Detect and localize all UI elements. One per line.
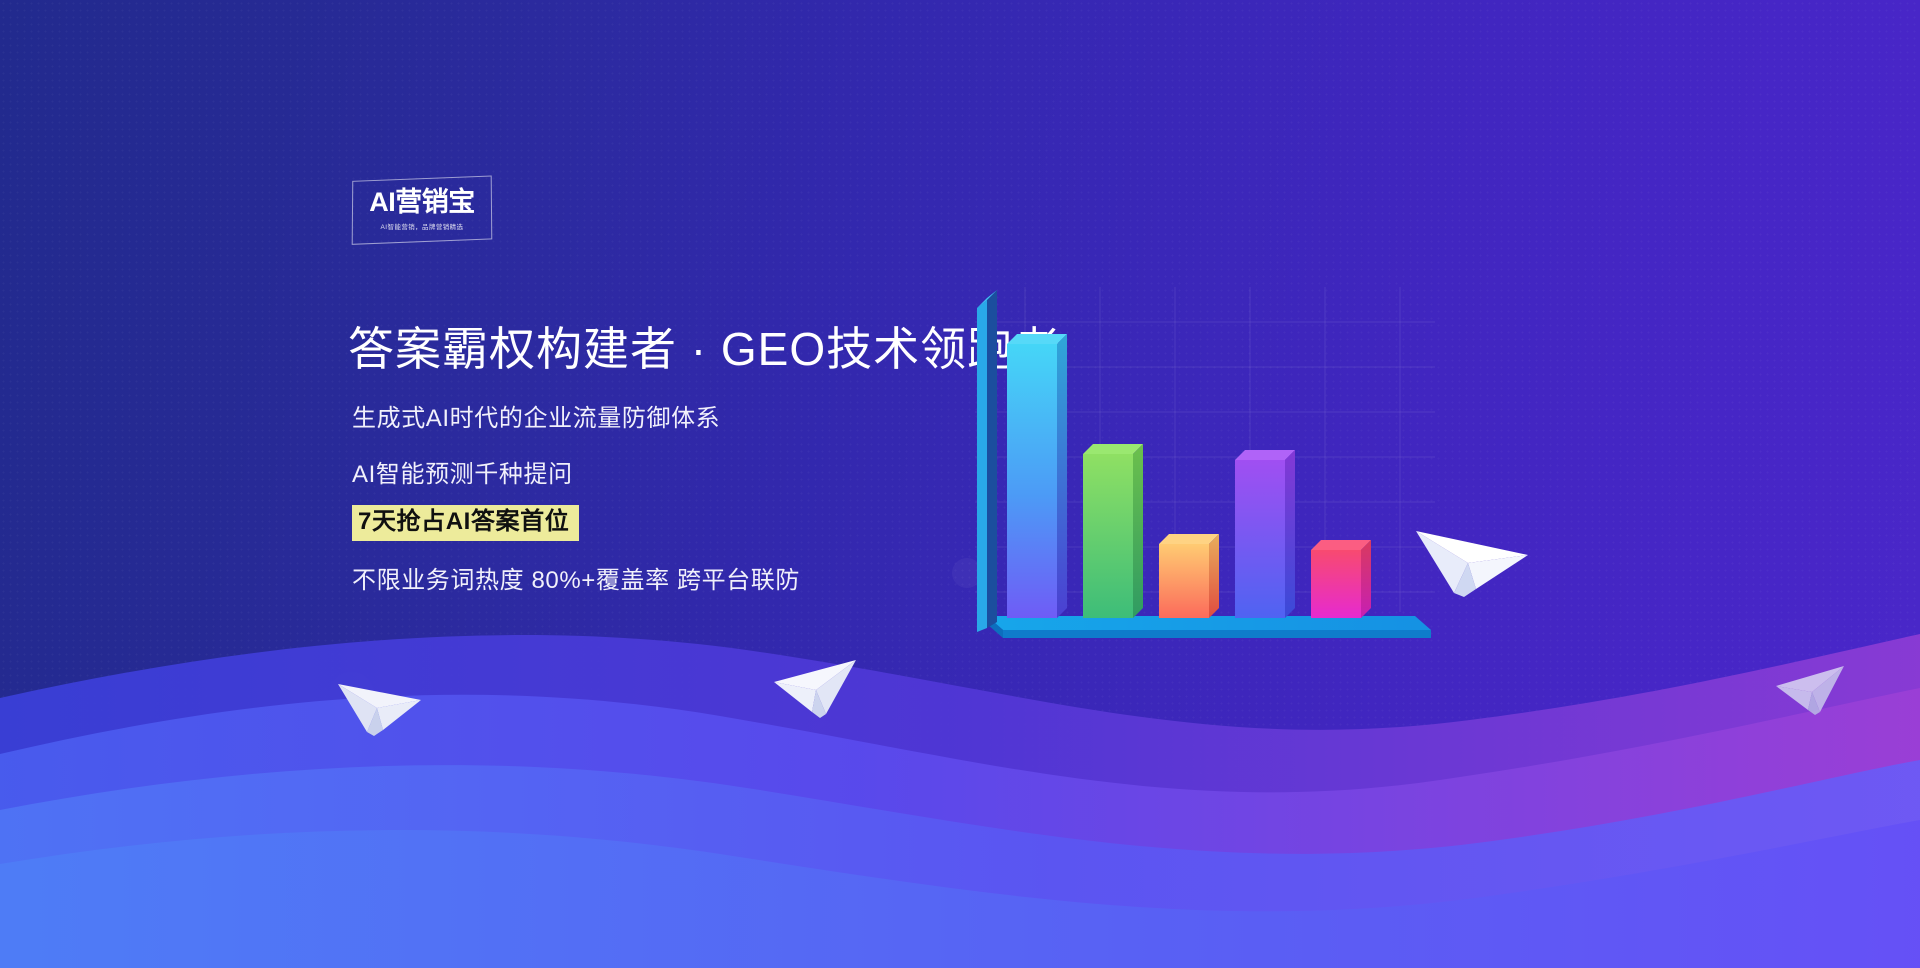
chart-base-plate xyxy=(987,616,1431,638)
brand-logo[interactable]: AI营销宝 AI智能营销，品牌营销精选 xyxy=(352,178,492,242)
hero-subline-4: 不限业务词热度 80%+覆盖率 跨平台联防 xyxy=(352,560,800,595)
chart-y-axis xyxy=(977,290,997,632)
chart-bar xyxy=(1007,334,1067,618)
chart-bar xyxy=(1311,540,1371,618)
chart-bar xyxy=(1235,450,1295,618)
hero-banner: AI营销宝 AI智能营销，品牌营销精选 答案霸权构建者 · GEO技术领跑者 生… xyxy=(0,0,1920,968)
page-title: 答案霸权构建者 · GEO技术领跑者 xyxy=(348,313,1061,379)
bar-chart-illustration xyxy=(965,282,1445,662)
hero-highlight-row: 7天抢占AI答案首位 xyxy=(352,505,579,541)
hero-subline-1: 生成式AI时代的企业流量防御体系 xyxy=(352,398,720,433)
hero-highlight-text: 7天抢占AI答案首位 xyxy=(352,505,579,541)
paper-plane-icon xyxy=(768,650,860,722)
wave-decoration xyxy=(0,548,1920,968)
paper-plane-icon xyxy=(1412,515,1532,605)
paper-plane-icon xyxy=(335,672,425,742)
logo-text: AI营销宝 xyxy=(369,189,475,216)
chart-bar xyxy=(1159,534,1219,618)
hero-subline-2: AI智能预测千种提问 xyxy=(352,454,573,489)
paper-plane-icon xyxy=(1772,660,1848,718)
logo-tagline: AI智能营销，品牌营销精选 xyxy=(381,222,464,231)
chart-bar xyxy=(1083,444,1143,618)
